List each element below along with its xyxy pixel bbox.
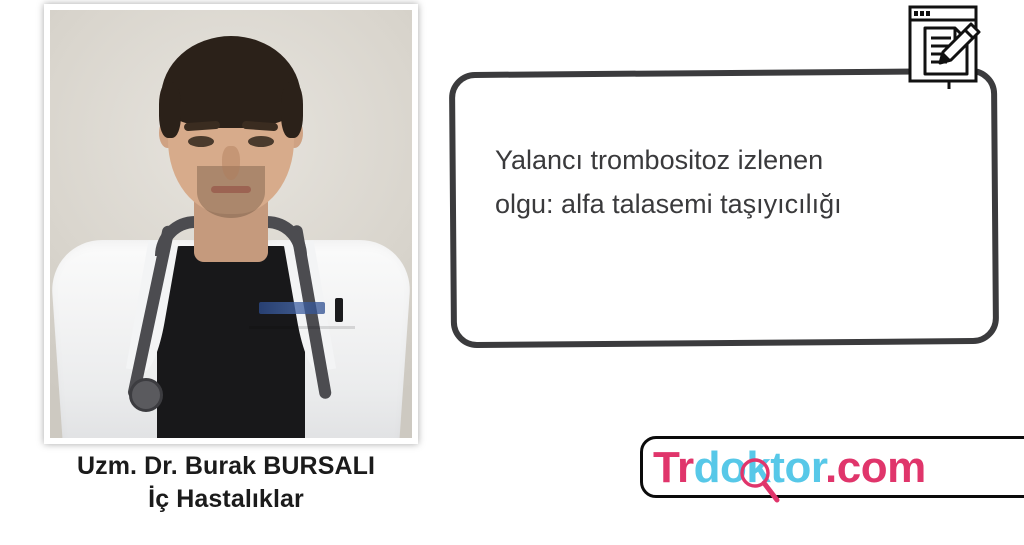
hair-sideburn-right	[281, 82, 303, 138]
title-line-1: Yalancı trombositoz izlenen	[495, 138, 965, 182]
stethoscope-bell	[129, 378, 163, 412]
logo-part-doktor: doktor	[694, 443, 825, 492]
doctor-specialty: İç Hastalıklar	[0, 483, 452, 516]
black-shirt	[157, 246, 305, 438]
doctor-name: Uzm. Dr. Burak BURSALI	[0, 450, 452, 483]
eye-left	[188, 136, 214, 147]
trdoktor-logo[interactable]: Trdoktor.com	[640, 436, 1024, 498]
trdoktor-logo-text: Trdoktor.com	[653, 441, 926, 495]
doctor-caption: Uzm. Dr. Burak BURSALI İç Hastalıklar	[0, 450, 452, 516]
logo-part-com: .com	[825, 443, 926, 492]
mouth	[211, 186, 251, 193]
pocket-pen-clip	[335, 298, 343, 322]
document-edit-icon	[905, 4, 983, 90]
eye-right	[248, 136, 274, 147]
coat-pocket-edge	[249, 326, 355, 329]
logo-part-tr: Tr	[653, 443, 694, 492]
title-line-2: olgu: alfa talasemi taşıyıcılığı	[495, 182, 965, 226]
title-card-text: Yalancı trombositoz izlenen olgu: alfa t…	[495, 138, 965, 226]
hair-sideburn-left	[159, 82, 181, 138]
nose	[222, 146, 240, 180]
coat-embroidered-name	[259, 302, 325, 314]
doctor-photo-card	[44, 4, 418, 444]
doctor-photo-image	[50, 10, 412, 438]
